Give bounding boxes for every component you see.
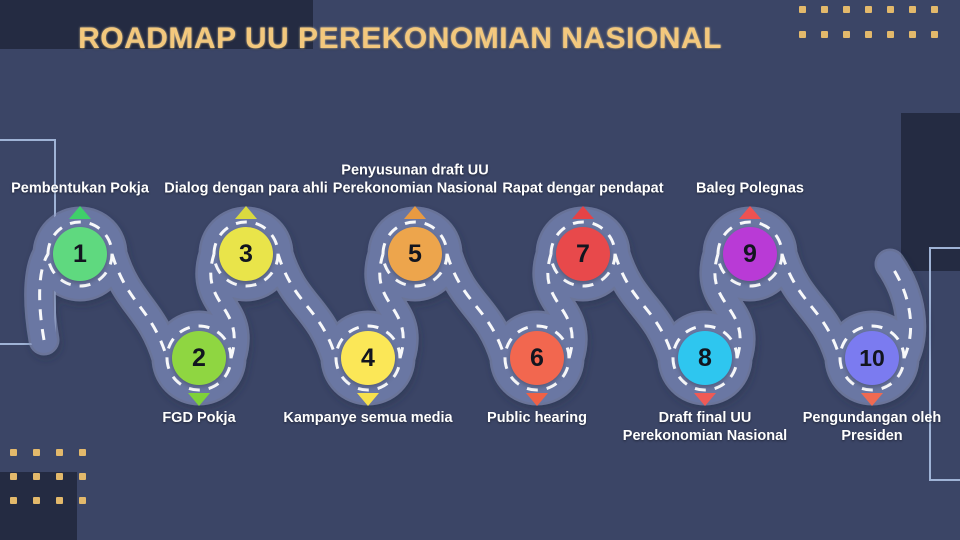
step-label-10: Pengundangan oleh Presiden xyxy=(782,410,960,445)
step-number-badge: 7 xyxy=(556,227,610,281)
step-number-badge: 9 xyxy=(723,227,777,281)
roadmap-step-node-9[interactable]: 9 xyxy=(718,222,782,286)
step-label-2: FGD Pokja xyxy=(109,410,289,428)
step-label-9: Baleg Polegnas xyxy=(660,180,840,198)
step-marker-6 xyxy=(526,393,548,406)
road-path xyxy=(0,0,960,540)
roadmap-step-node-2[interactable]: 2 xyxy=(167,326,231,390)
step-label-1: Pembentukan Pokja xyxy=(0,180,170,198)
step-label-3: Dialog dengan para ahli xyxy=(156,180,336,198)
step-number-badge: 2 xyxy=(172,331,226,385)
step-number-badge: 4 xyxy=(341,331,395,385)
step-label-4: Kampanye semua media xyxy=(278,410,458,428)
step-marker-1 xyxy=(69,206,91,219)
roadmap-step-node-7[interactable]: 7 xyxy=(551,222,615,286)
roadmap-canvas: ROADMAP UU PEREKONOMIAN NASIONAL 1Pemben… xyxy=(0,0,960,540)
step-label-8: Draft final UU Perekonomian Nasional xyxy=(615,410,795,445)
step-marker-4 xyxy=(357,393,379,406)
step-number-badge: 8 xyxy=(678,331,732,385)
step-number-badge: 1 xyxy=(53,227,107,281)
step-label-7: Rapat dengar pendapat xyxy=(493,180,673,198)
step-marker-10 xyxy=(861,393,883,406)
step-marker-8 xyxy=(694,393,716,406)
step-marker-7 xyxy=(572,206,594,219)
roadmap-step-node-1[interactable]: 1 xyxy=(48,222,112,286)
step-marker-9 xyxy=(739,206,761,219)
step-number-badge: 5 xyxy=(388,227,442,281)
step-number-badge: 3 xyxy=(219,227,273,281)
step-marker-2 xyxy=(188,393,210,406)
roadmap-step-node-5[interactable]: 5 xyxy=(383,222,447,286)
step-label-5: Penyusunan draft UU Perekonomian Nasiona… xyxy=(325,163,505,198)
roadmap-step-node-4[interactable]: 4 xyxy=(336,326,400,390)
roadmap-step-node-8[interactable]: 8 xyxy=(673,326,737,390)
roadmap-step-node-3[interactable]: 3 xyxy=(214,222,278,286)
roadmap-step-node-10[interactable]: 10 xyxy=(840,326,904,390)
roadmap-step-node-6[interactable]: 6 xyxy=(505,326,569,390)
step-number-badge: 10 xyxy=(845,331,899,385)
step-label-6: Public hearing xyxy=(447,410,627,428)
step-marker-3 xyxy=(235,206,257,219)
step-marker-5 xyxy=(404,206,426,219)
step-number-badge: 6 xyxy=(510,331,564,385)
